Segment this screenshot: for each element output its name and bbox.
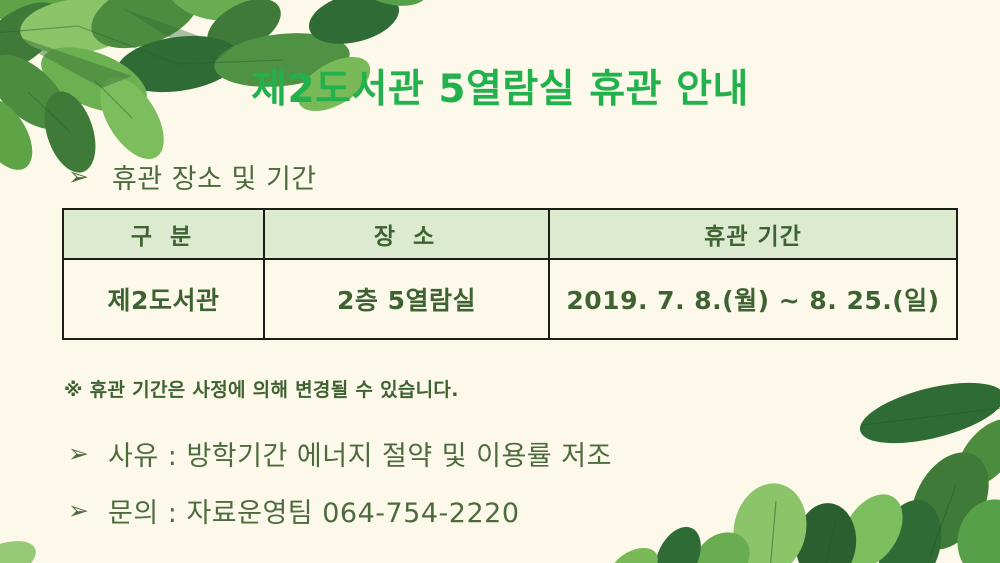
bullet-item-reason: ➢ 사유 : 방학기간 에너지 절약 및 이용률 저조: [68, 434, 612, 473]
slide-canvas: 제2도서관 5열람실 휴관 안내 ➢ 휴관 장소 및 기간 구 분 장 소 휴관…: [0, 0, 1000, 563]
table-cell-division: 제2도서관: [63, 259, 264, 339]
closure-schedule-table: 구 분 장 소 휴관 기간 제2도서관 2층 5열람실 2019. 7. 8.(…: [62, 208, 958, 340]
table-cell-place: 2층 5열람실: [264, 259, 549, 339]
bullet-label-reason: 사유 : 방학기간 에너지 절약 및 이용률 저조: [98, 434, 612, 473]
arrow-bullet-icon: ➢: [68, 441, 98, 466]
arrow-bullet-icon: ➢: [68, 498, 98, 523]
table-row: 제2도서관 2층 5열람실 2019. 7. 8.(월) ~ 8. 25.(일): [63, 259, 957, 339]
bullet-label-contact: 문의 : 자료운영팀 064-754-2220: [98, 491, 520, 530]
arrow-bullet-icon: ➢: [68, 164, 98, 189]
bullet-item-place-period: ➢ 휴관 장소 및 기간: [68, 157, 317, 196]
table-header-row: 구 분 장 소 휴관 기간: [63, 209, 957, 259]
page-title: 제2도서관 5열람실 휴관 안내: [0, 58, 1000, 114]
leaf-cluster-icon: [610, 381, 1000, 563]
disclaimer-note: ※ 휴관 기간은 사정에 의해 변경될 수 있습니다.: [64, 375, 459, 402]
table-header-period: 휴관 기간: [549, 209, 957, 259]
bullet-item-contact: ➢ 문의 : 자료운영팀 064-754-2220: [68, 491, 520, 530]
table-header-place: 장 소: [264, 209, 549, 259]
bullet-label-place-period: 휴관 장소 및 기간: [98, 157, 317, 196]
table-header-division: 구 분: [63, 209, 264, 259]
leaf-sprig-icon: [0, 533, 80, 563]
table-cell-period: 2019. 7. 8.(월) ~ 8. 25.(일): [549, 259, 957, 339]
